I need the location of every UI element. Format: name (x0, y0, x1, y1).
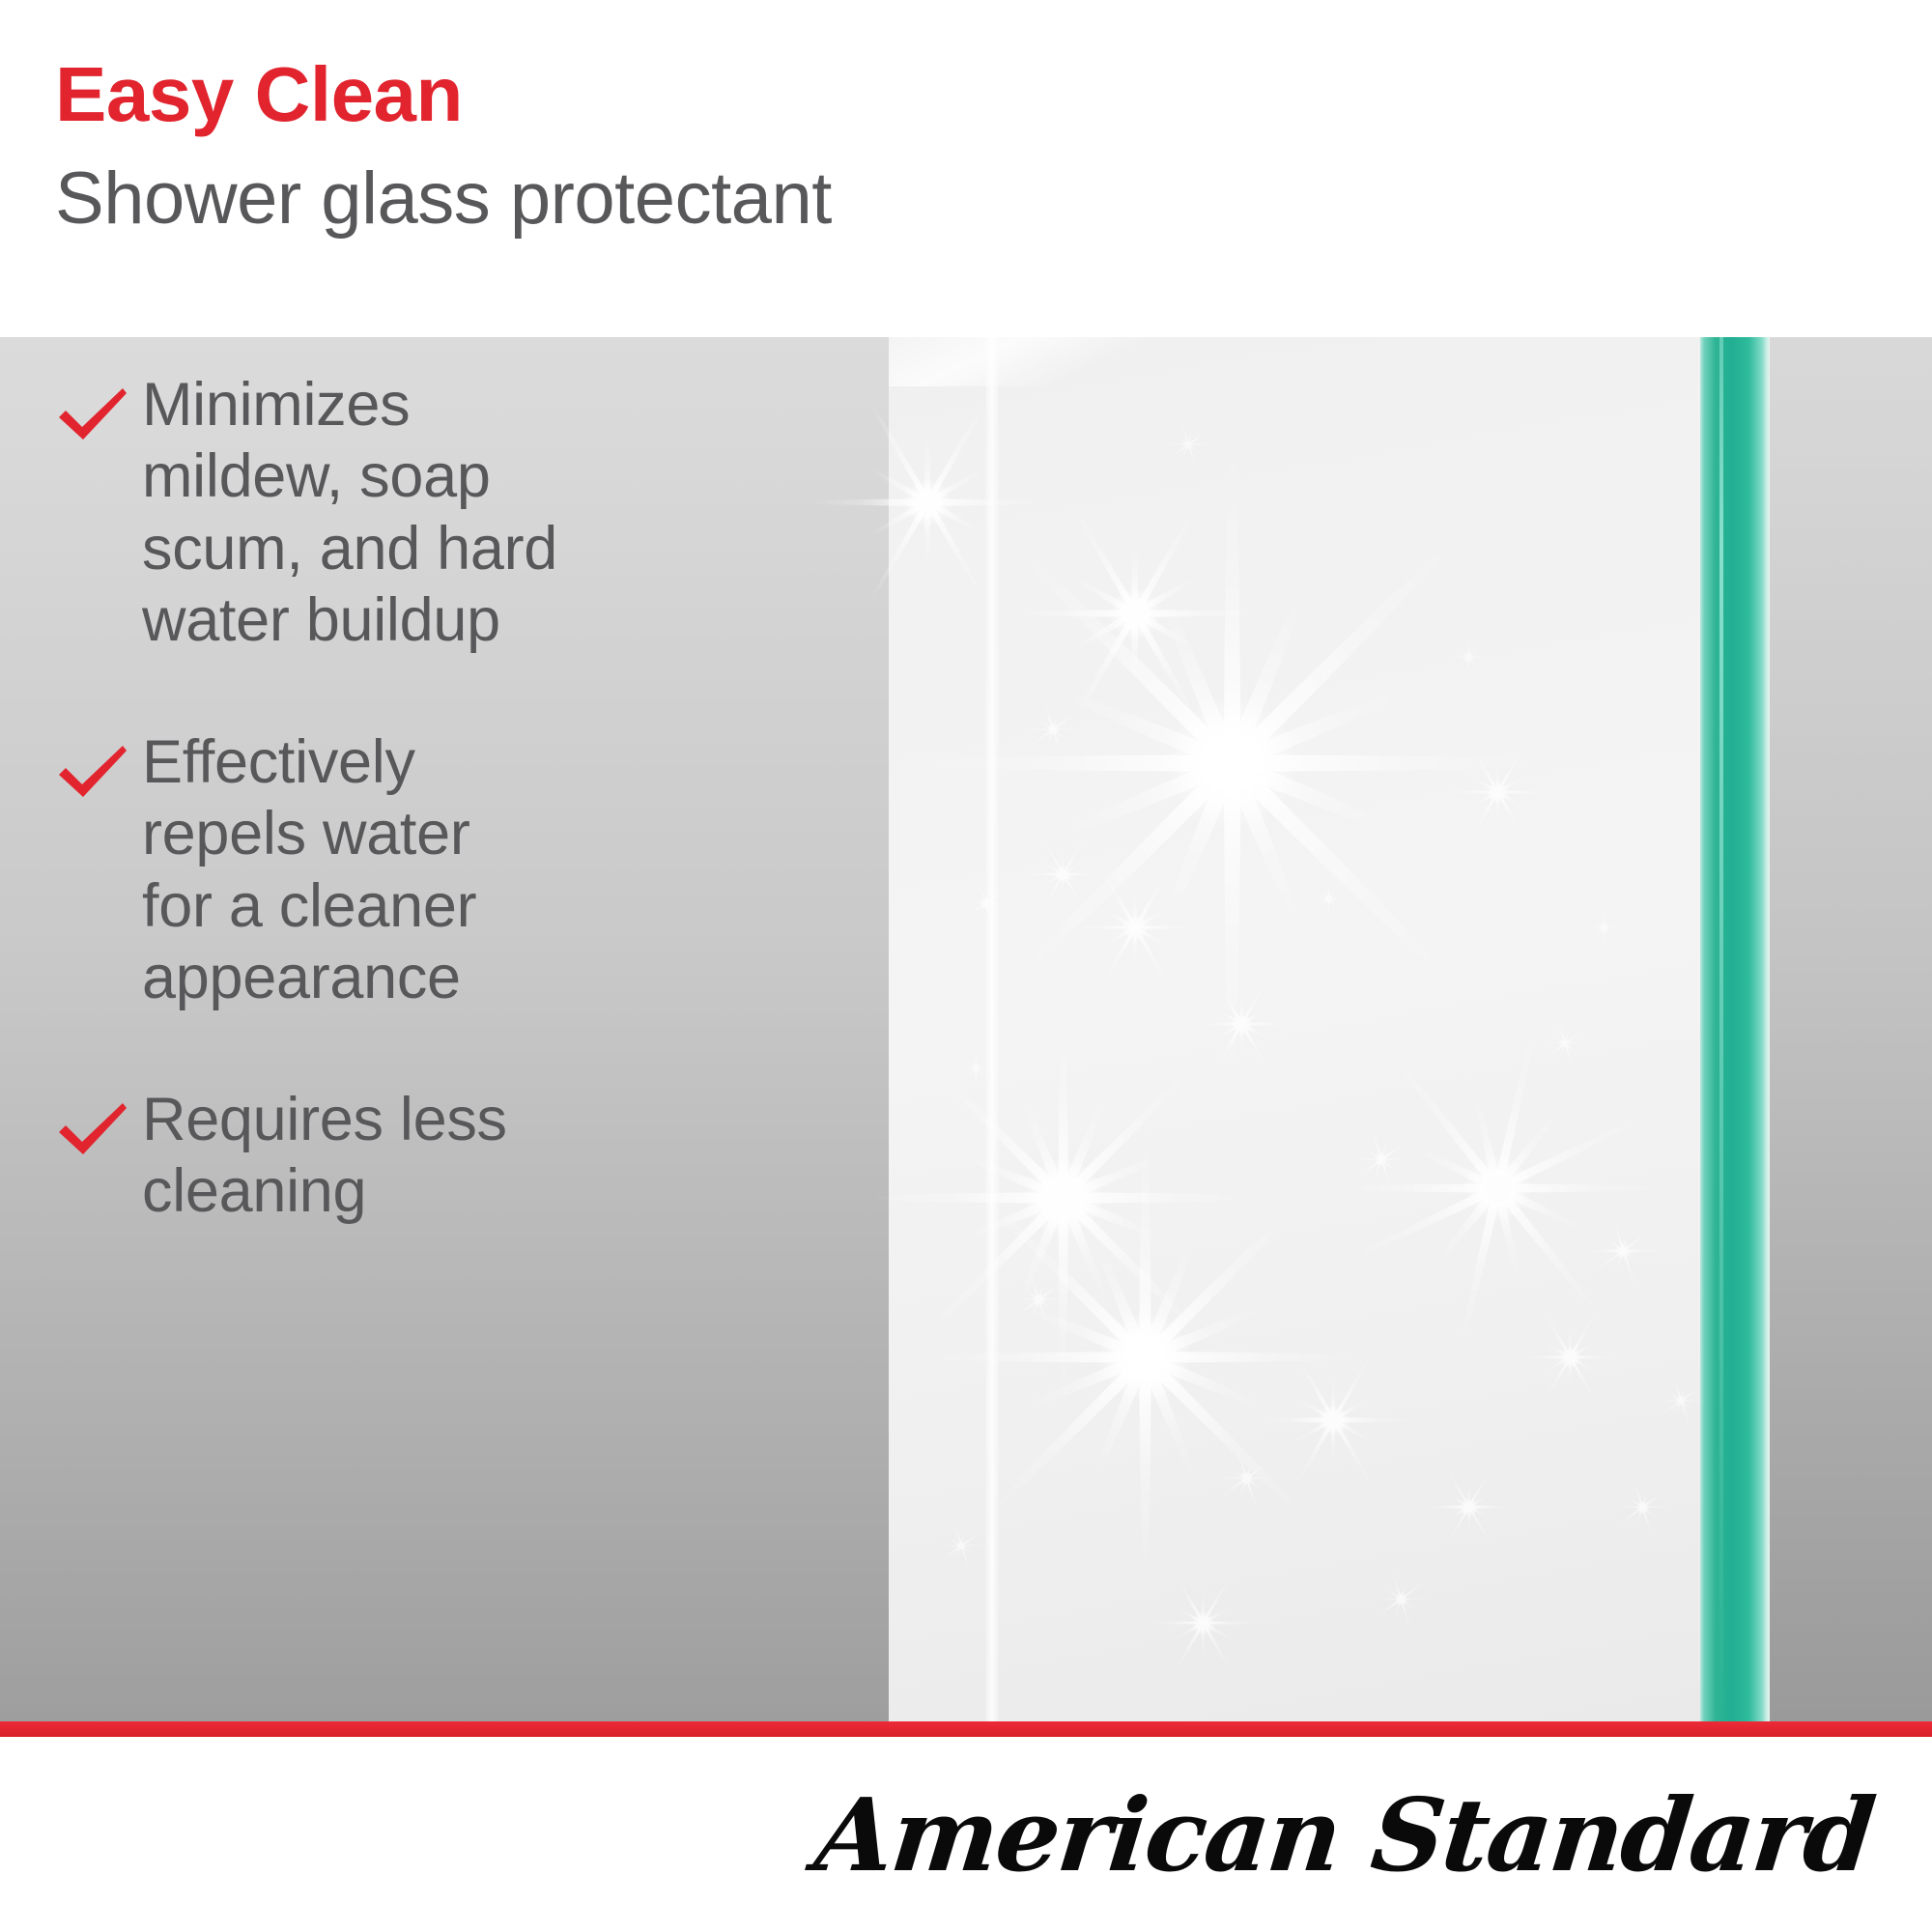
list-item: Minimizes mildew, soap scum, and hard wa… (55, 369, 731, 656)
check-icon (55, 379, 130, 454)
feature-list: Minimizes mildew, soap scum, and hard wa… (0, 0, 734, 1721)
accent-bar (0, 1721, 1932, 1737)
brand-logo: American Standard (810, 1776, 1878, 1894)
list-item-label: Effectively repels water for a cleaner a… (142, 726, 476, 1013)
check-icon (55, 1094, 130, 1169)
list-item: Effectively repels water for a cleaner a… (55, 726, 731, 1013)
list-item: Requires less cleaning (55, 1084, 731, 1228)
infographic-canvas: Easy Clean Shower glass protectant Minim… (0, 0, 1932, 1932)
list-item-label: Requires less cleaning (142, 1084, 507, 1228)
glass-seam (985, 337, 999, 1721)
list-item-label: Minimizes mildew, soap scum, and hard wa… (142, 369, 557, 656)
check-icon (55, 736, 130, 811)
